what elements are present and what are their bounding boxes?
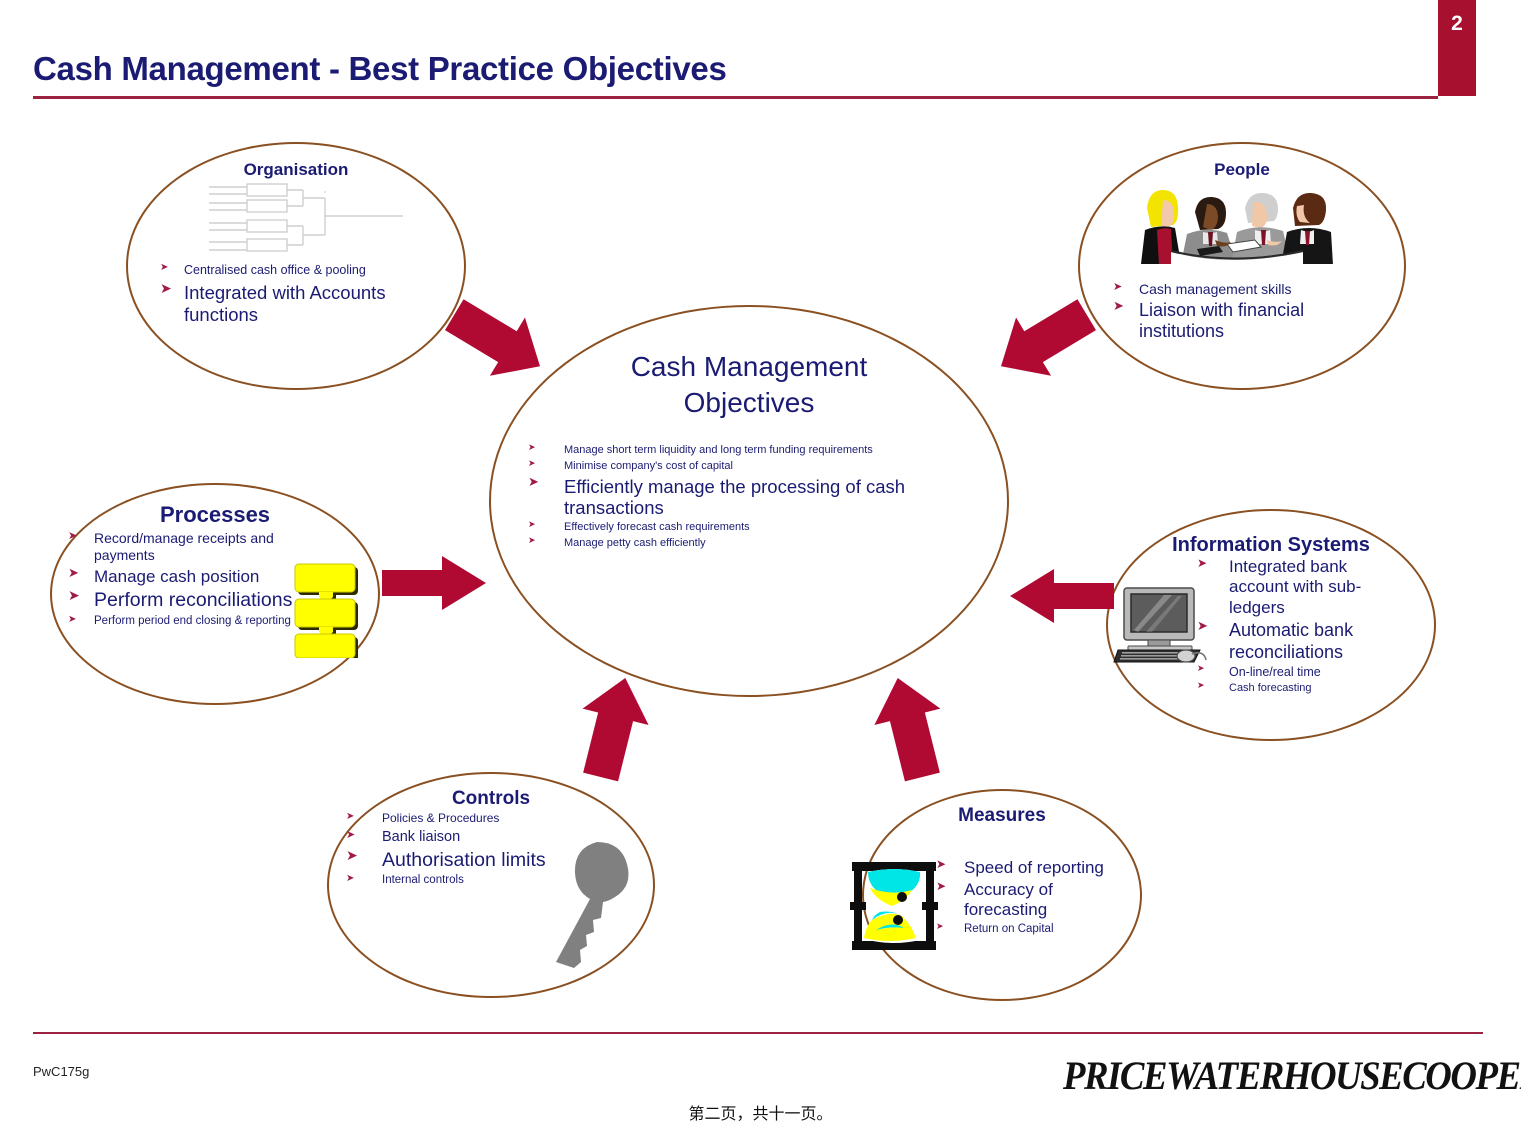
bullet-arrow-icon: ➤	[1113, 300, 1139, 314]
list-item-label: Centralised cash office & pooling	[184, 263, 422, 278]
list-item: ➤ Bank liaison	[346, 829, 574, 846]
bullet-arrow-icon: ➤	[936, 923, 964, 932]
list-item-label: Manage cash position	[94, 567, 304, 587]
page-indicator: 第二页，共十一页。	[0, 1100, 1521, 1124]
bullet-arrow-icon: ➤	[528, 444, 564, 453]
list-item: ➤ Cash forecasting	[1197, 682, 1397, 695]
bullet-list-people: ➤ Cash management skills ➤ Liaison with …	[1113, 281, 1393, 342]
arrow-organisation-to-center	[443, 295, 553, 387]
bubble-title-people: People	[1080, 160, 1404, 180]
bullet-arrow-icon: ➤	[1197, 682, 1229, 691]
arrow-controls-to-center	[565, 672, 657, 782]
list-item: ➤ Integrated bank account with sub-ledge…	[1197, 557, 1397, 618]
list-item-label: Cash forecasting	[1229, 682, 1397, 695]
bullet-list-measures: ➤ Speed of reporting ➤ Accuracy of forec…	[936, 858, 1126, 936]
list-item: ➤ Policies & Procedures	[346, 812, 574, 826]
bullet-arrow-icon: ➤	[68, 589, 94, 604]
list-item-label: Manage short term liquidity and long ter…	[564, 444, 998, 457]
bullet-list-center: ➤ Manage short term liquidity and long t…	[528, 444, 998, 550]
people-meeting-icon	[1141, 182, 1333, 264]
list-item-label: Record/manage receipts and payments	[94, 530, 304, 564]
bullet-arrow-icon: ➤	[346, 812, 382, 823]
bullet-arrow-icon: ➤	[160, 263, 184, 274]
list-item: ➤ Internal controls	[346, 874, 574, 887]
arrow-people-to-center	[988, 295, 1098, 387]
hourglass-icon	[846, 860, 942, 952]
page-title: Cash Management - Best Practice Objectiv…	[33, 50, 727, 88]
bullet-list-controls: ➤ Policies & Procedures ➤ Bank liaison ➤…	[346, 812, 574, 888]
list-item-label: Liaison with financial institutions	[1139, 300, 1393, 342]
list-item-label: Manage petty cash efficiently	[564, 537, 998, 550]
list-item: ➤ Speed of reporting	[936, 858, 1126, 878]
list-item: ➤ On-line/real time	[1197, 665, 1397, 680]
list-item: ➤ Record/manage receipts and payments	[68, 530, 304, 564]
center-title: Cash Management Objectives	[491, 349, 1007, 421]
list-item: ➤ Minimise company's cost of capital	[528, 460, 998, 473]
bullet-arrow-icon: ➤	[346, 849, 382, 864]
list-item-label: Minimise company's cost of capital	[564, 460, 998, 473]
bullet-list-processes: ➤ Record/manage receipts and payments ➤ …	[68, 530, 304, 628]
bullet-arrow-icon: ➤	[68, 615, 94, 626]
list-item: ➤ Manage short term liquidity and long t…	[528, 444, 998, 457]
list-item: ➤ Perform reconciliations	[68, 589, 304, 612]
bubble-title-processes: Processes	[52, 502, 378, 528]
list-item-label: Authorisation limits	[382, 849, 574, 872]
list-item-label: Integrated bank account with sub-ledgers	[1229, 557, 1397, 618]
bubble-title-information-systems: Information Systems	[1108, 534, 1434, 557]
bullet-arrow-icon: ➤	[528, 521, 564, 530]
list-item-label: Automatic bank reconciliations	[1229, 620, 1397, 663]
center-title-line2: Objectives	[491, 385, 1007, 421]
bullet-arrow-icon: ➤	[936, 880, 964, 893]
pwc-wordmark: PRICEWATERHOUSECOOPERS	[1063, 1052, 1521, 1099]
bullet-arrow-icon: ➤	[528, 460, 564, 469]
org-chart-icon	[207, 182, 405, 264]
list-item: ➤ Perform period end closing & reporting	[68, 615, 304, 628]
list-item: ➤ Accuracy of forecasting	[936, 880, 1126, 921]
list-item: ➤ Automatic bank reconciliations	[1197, 620, 1397, 663]
bullet-arrow-icon: ➤	[68, 567, 94, 581]
list-item: ➤ Manage petty cash efficiently	[528, 537, 998, 550]
list-item-label: Internal controls	[382, 874, 574, 887]
list-item-label: Accuracy of forecasting	[964, 880, 1126, 921]
footer-divider	[33, 1032, 1483, 1034]
slide-canvas: 2 Cash Management - Best Practice Object…	[0, 0, 1521, 1140]
list-item-label: On-line/real time	[1229, 665, 1397, 680]
list-item-label: Effectively forecast cash requirements	[564, 521, 998, 534]
list-item-label: Integrated with Accounts functions	[184, 282, 422, 326]
document-code: PwC175g	[33, 1064, 89, 1079]
bullet-arrow-icon: ➤	[1197, 557, 1229, 570]
bullet-arrow-icon: ➤	[1197, 620, 1229, 634]
arrow-information-systems-to-center	[1006, 565, 1116, 627]
bubble-title-organisation: Organisation	[128, 160, 464, 180]
list-item: ➤ Efficiently manage the processing of c…	[528, 476, 998, 519]
bullet-arrow-icon: ➤	[936, 858, 964, 871]
list-item: ➤ Effectively forecast cash requirements	[528, 521, 998, 534]
list-item-label: Perform period end closing & reporting	[94, 615, 304, 628]
list-item-label: Speed of reporting	[964, 858, 1126, 878]
list-item: ➤ Authorisation limits	[346, 849, 574, 872]
list-item-label: Policies & Procedures	[382, 812, 574, 826]
list-item: ➤ Liaison with financial institutions	[1113, 300, 1393, 342]
list-item: ➤ Integrated with Accounts functions	[160, 282, 422, 326]
page-number-badge: 2	[1438, 0, 1476, 96]
bullet-arrow-icon: ➤	[1113, 281, 1139, 293]
bullet-arrow-icon: ➤	[346, 829, 382, 841]
title-divider	[33, 96, 1438, 99]
bullet-list-organisation: ➤ Centralised cash office & pooling ➤ In…	[160, 263, 422, 326]
bubble-title-controls: Controls	[329, 788, 653, 810]
list-item-label: Return on Capital	[964, 923, 1126, 936]
bullet-arrow-icon: ➤	[528, 537, 564, 546]
bubble-title-measures: Measures	[864, 805, 1140, 827]
list-item: ➤ Cash management skills	[1113, 281, 1393, 297]
bullet-list-information-systems: ➤ Integrated bank account with sub-ledge…	[1197, 557, 1397, 695]
list-item-label: Cash management skills	[1139, 281, 1393, 297]
bullet-arrow-icon: ➤	[68, 530, 94, 542]
bullet-arrow-icon: ➤	[1197, 665, 1229, 674]
bullet-arrow-icon: ➤	[528, 476, 564, 490]
list-item: ➤ Manage cash position	[68, 567, 304, 587]
bubble-people[interactable]: People	[1078, 142, 1406, 390]
pwc-logo: PRICEWATERHOUSECOOPERS PW	[1063, 1052, 1521, 1099]
bullet-arrow-icon: ➤	[346, 874, 382, 885]
list-item-label: Bank liaison	[382, 829, 574, 846]
list-item-label: Perform reconciliations	[94, 589, 304, 612]
list-item: ➤ Centralised cash office & pooling	[160, 263, 422, 278]
list-item: ➤ Return on Capital	[936, 923, 1126, 936]
arrow-processes-to-center	[380, 552, 490, 614]
arrow-measures-to-center	[866, 672, 958, 782]
list-item-label: Efficiently manage the processing of cas…	[564, 476, 998, 519]
bullet-arrow-icon: ➤	[160, 282, 184, 297]
center-title-line1: Cash Management	[491, 349, 1007, 385]
